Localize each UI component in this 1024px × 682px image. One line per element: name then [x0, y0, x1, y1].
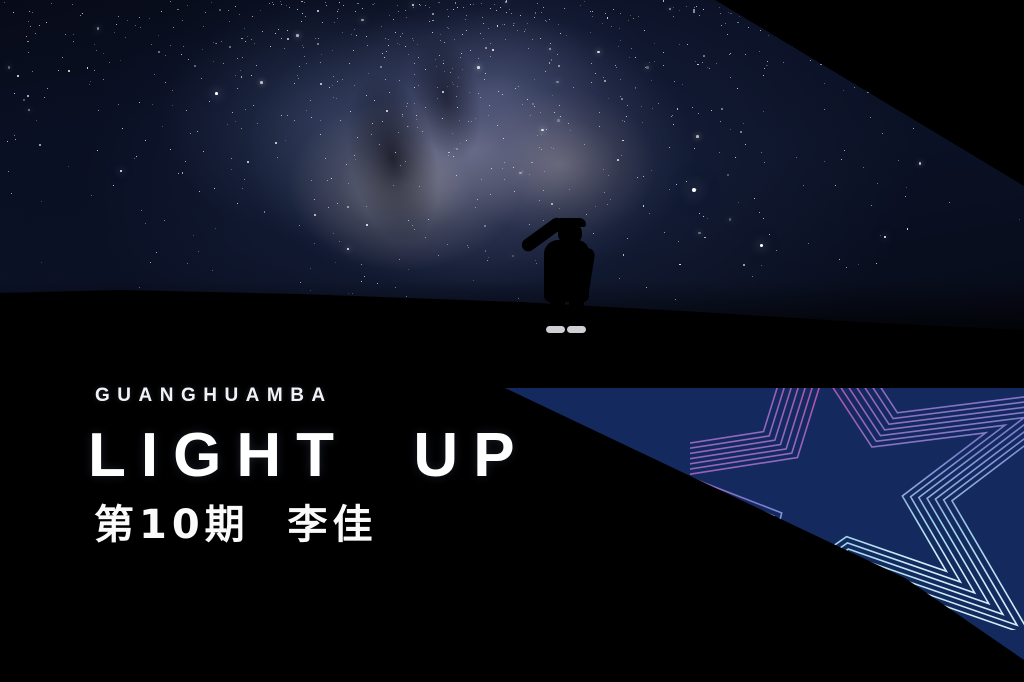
person-shoe-left: [546, 326, 565, 333]
kicker-text: GUANGHUAMBA: [95, 386, 708, 405]
subtitle-text: 第10期 李佳: [94, 503, 708, 547]
night-sky-photo: [0, 0, 1024, 400]
poster-canvas: GUANGHUAMBA LIGHT UP 第10期 李佳: [0, 0, 1024, 682]
person-shoe-right: [567, 326, 586, 333]
headline-text: LIGHT UP: [88, 425, 708, 487]
title-block: GUANGHUAMBA LIGHT UP 第10期 李佳: [88, 386, 708, 547]
person-silhouette-icon: [508, 196, 604, 332]
